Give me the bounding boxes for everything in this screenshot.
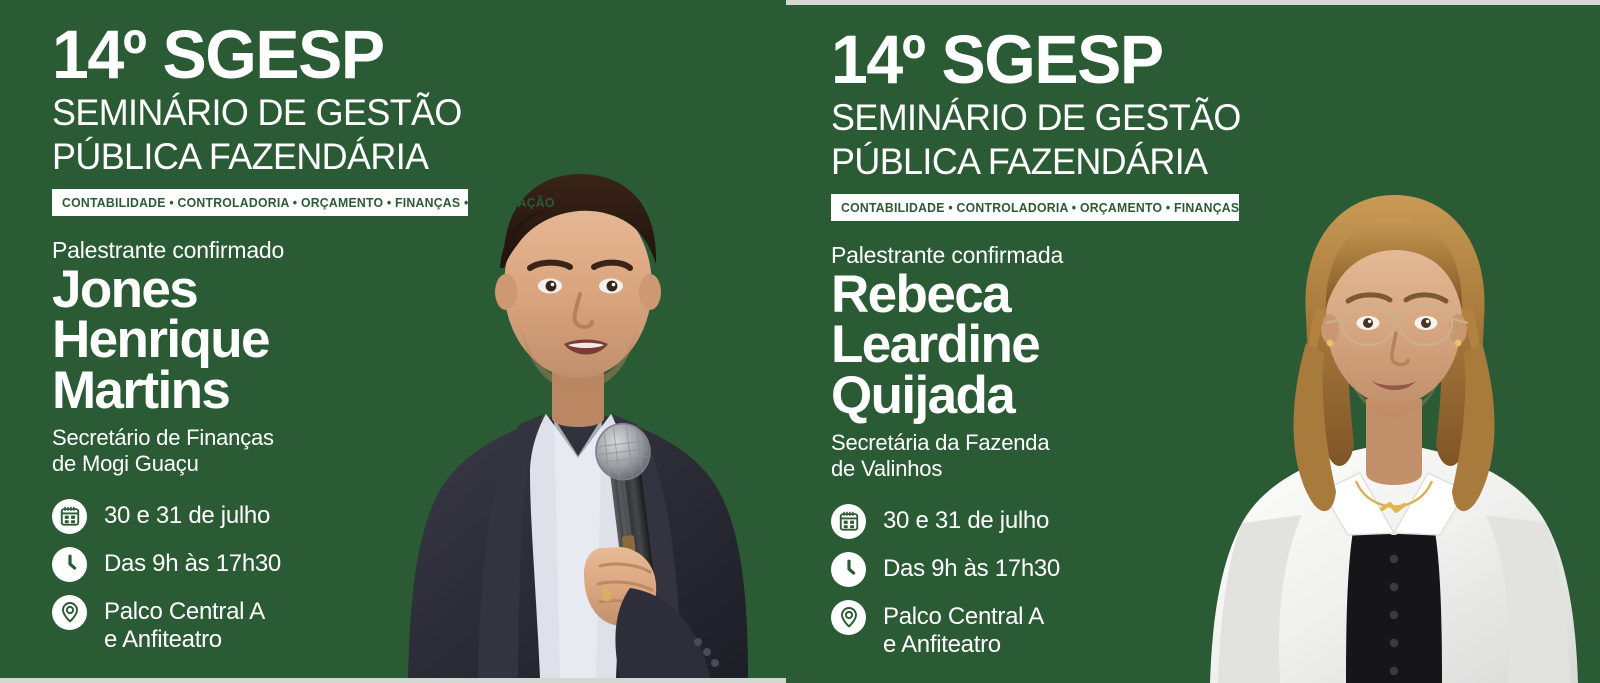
speaker-name-line-3: Quijada [831, 371, 1306, 421]
location-pin-icon [52, 595, 87, 630]
calendar-icon [831, 504, 866, 539]
info-row-time: Das 9h às 17h30 [52, 547, 520, 582]
panel-seam-bottom-left [0, 678, 786, 683]
calendar-icon [52, 499, 87, 534]
event-edition-title: 14º SGESP [52, 22, 501, 89]
clock-icon [52, 547, 87, 582]
event-info-list-left: 30 e 31 de julho Das 9h às 17h30 [52, 499, 520, 654]
info-row-date: 30 e 31 de julho [831, 504, 1306, 539]
speaker-role: Secretário de Finanças de Mogi Guaçu [52, 425, 520, 477]
event-edition-title: 14º SGESP [831, 27, 1287, 94]
speaker-name-line-2: Leardine [831, 320, 1306, 370]
speaker-card-right: 14º SGESP SEMINÁRIO DE GESTÃO PÚBLICA FA… [786, 5, 1600, 683]
info-text-location: Palco Central A e Anfiteatro [883, 600, 1044, 659]
speaker-block-right: Palestrante confirmada Rebeca Leardine Q… [831, 243, 1306, 482]
banner-stage: 14º SGESP SEMINÁRIO DE GESTÃO PÚBLICA FA… [0, 0, 1600, 683]
speaker-name: Rebeca Leardine Quijada [831, 270, 1306, 421]
topics-text: CONTABILIDADE • CONTROLADORIA • ORÇAMENT… [841, 201, 1221, 215]
event-subtitle-line-2: PÚBLICA FAZENDÁRIA [831, 143, 1292, 182]
speaker-name: Jones Henrique Martins [52, 265, 520, 416]
content-column-left: 14º SGESP SEMINÁRIO DE GESTÃO PÚBLICA FA… [0, 0, 520, 654]
speaker-role: Secretária da Fazenda de Valinhos [831, 430, 1306, 482]
speaker-role-line-2: de Valinhos [831, 456, 1306, 482]
speaker-name-line-2: Henrique [52, 315, 520, 365]
info-row-time: Das 9h às 17h30 [831, 552, 1306, 587]
masthead-right: 14º SGESP SEMINÁRIO DE GESTÃO PÚBLICA FA… [831, 5, 1306, 221]
speaker-role-line-1: Secretário de Finanças [52, 425, 520, 451]
speaker-role-line-1: Secretária da Fazenda [831, 430, 1306, 456]
info-location-line-2: e Anfiteatro [883, 631, 1044, 659]
topics-bar: CONTABILIDADE • CONTROLADORIA • ORÇAMENT… [52, 189, 468, 216]
speaker-name-line-1: Jones [52, 265, 520, 315]
speaker-role-line-2: de Mogi Guaçu [52, 451, 520, 477]
masthead-left: 14º SGESP SEMINÁRIO DE GESTÃO PÚBLICA FA… [52, 0, 520, 216]
info-date-line-1: 30 e 31 de julho [104, 502, 270, 530]
speaker-name-line-3: Martins [52, 366, 520, 416]
info-time-line-1: Das 9h às 17h30 [104, 550, 281, 578]
info-row-location: Palco Central A e Anfiteatro [831, 600, 1306, 659]
content-column-right: 14º SGESP SEMINÁRIO DE GESTÃO PÚBLICA FA… [786, 5, 1306, 659]
topics-bar: CONTABILIDADE • CONTROLADORIA • ORÇAMENT… [831, 194, 1239, 221]
event-info-list-right: 30 e 31 de julho Das 9h às 17h30 [831, 504, 1306, 659]
info-location-line-1: Palco Central A [104, 598, 265, 626]
info-date-line-1: 30 e 31 de julho [883, 507, 1049, 535]
info-text-location: Palco Central A e Anfiteatro [104, 595, 265, 654]
location-pin-icon [831, 600, 866, 635]
info-location-line-2: e Anfiteatro [104, 626, 265, 654]
info-location-line-1: Palco Central A [883, 603, 1044, 631]
info-text-date: 30 e 31 de julho [883, 504, 1049, 535]
info-row-date: 30 e 31 de julho [52, 499, 520, 534]
clock-icon [831, 552, 866, 587]
panel-seam-top [786, 0, 1600, 5]
info-row-location: Palco Central A e Anfiteatro [52, 595, 520, 654]
event-subtitle-line-1: SEMINÁRIO DE GESTÃO [52, 94, 506, 133]
topics-text: CONTABILIDADE • CONTROLADORIA • ORÇAMENT… [62, 196, 450, 210]
info-text-date: 30 e 31 de julho [104, 499, 270, 530]
info-text-time: Das 9h às 17h30 [104, 547, 281, 578]
speaker-name-line-1: Rebeca [831, 270, 1306, 320]
info-time-line-1: Das 9h às 17h30 [883, 555, 1060, 583]
speaker-card-left: 14º SGESP SEMINÁRIO DE GESTÃO PÚBLICA FA… [0, 0, 786, 678]
event-subtitle-line-1: SEMINÁRIO DE GESTÃO [831, 99, 1292, 138]
info-text-time: Das 9h às 17h30 [883, 552, 1060, 583]
speaker-block-left: Palestrante confirmado Jones Henrique Ma… [52, 238, 520, 477]
event-subtitle-line-2: PÚBLICA FAZENDÁRIA [52, 138, 506, 177]
